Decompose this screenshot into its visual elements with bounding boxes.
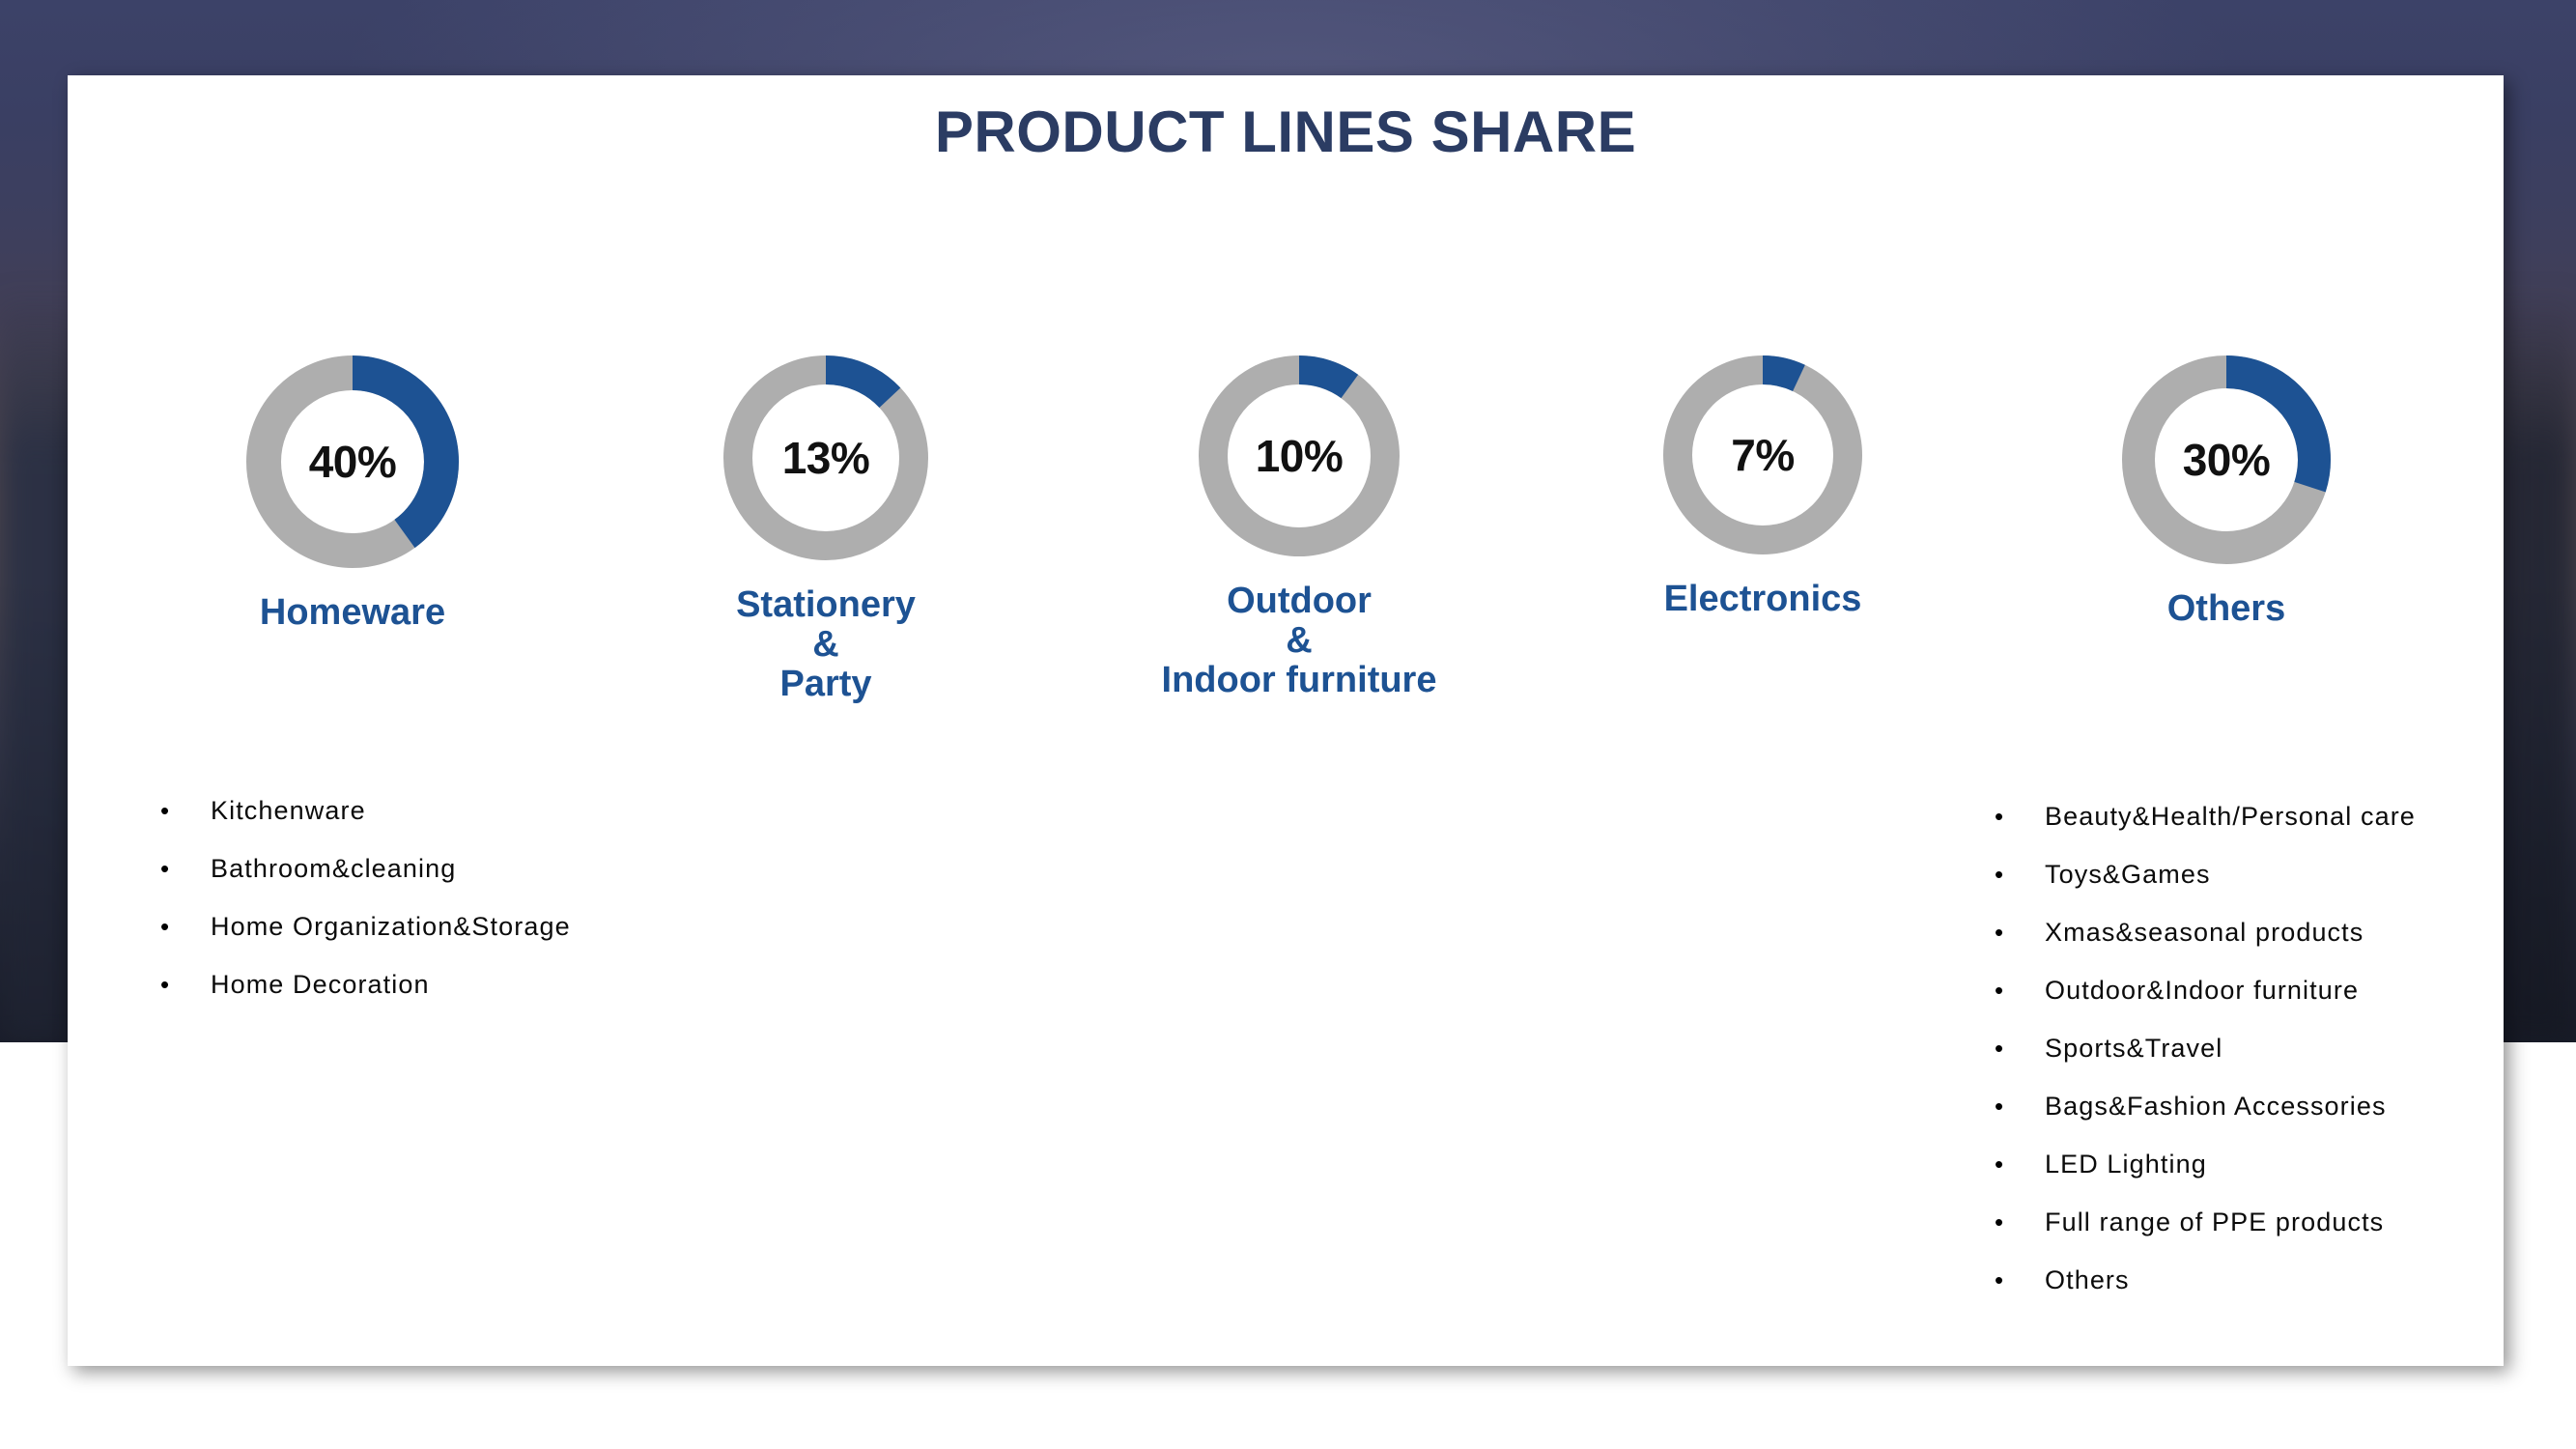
list-item-label: Home Decoration <box>211 970 430 1000</box>
donut-ring: 13% <box>723 355 928 560</box>
donut-category-label: Electronics <box>1555 580 1970 619</box>
list-item-label: Xmas&seasonal products <box>2045 918 2364 948</box>
donut-percent-value: 13% <box>723 355 928 560</box>
bullet-dot-icon: • <box>160 972 211 997</box>
page-title: PRODUCT LINES SHARE <box>68 99 2504 165</box>
donut-category-label: Others <box>2019 589 2434 629</box>
list-item-label: Home Organization&Storage <box>211 912 571 942</box>
list-item: •Beauty&Health/Personal care <box>1995 802 2416 832</box>
donut-percent-value: 30% <box>2122 355 2331 564</box>
donut-ring: 40% <box>246 355 459 568</box>
list-item-label: Sports&Travel <box>2045 1034 2222 1064</box>
bullet-dot-icon: • <box>1995 1267 2045 1293</box>
donut-ring: 10% <box>1199 355 1400 556</box>
list-item: •Home Decoration <box>160 970 571 1000</box>
bullet-dot-icon: • <box>160 798 211 823</box>
bullet-dot-icon: • <box>1995 1094 2045 1119</box>
slide-stage: PRODUCT LINES SHARE 40%Homeware13%Statio… <box>0 0 2576 1449</box>
list-item: •Xmas&seasonal products <box>1995 918 2416 948</box>
donut-percent-value: 10% <box>1199 355 1400 556</box>
bullet-dot-icon: • <box>160 856 211 881</box>
donut-cell-3: 10%Outdoor & Indoor furniture <box>1091 355 1507 700</box>
list-item-label: Full range of PPE products <box>2045 1207 2384 1237</box>
bullet-dot-icon: • <box>1995 804 2045 829</box>
list-item-label: LED Lighting <box>2045 1150 2207 1179</box>
list-item: •Toys&Games <box>1995 860 2416 890</box>
donut-category-label: Homeware <box>145 593 560 633</box>
donut-category-label: Stationery & Party <box>618 585 1033 704</box>
donut-cell-4: 7%Electronics <box>1555 355 1970 619</box>
bullet-dot-icon: • <box>1995 1151 2045 1177</box>
list-item-label: Toys&Games <box>2045 860 2211 890</box>
bullet-dot-icon: • <box>1995 1036 2045 1061</box>
bullet-dot-icon: • <box>1995 920 2045 945</box>
donut-chart-row: 40%Homeware13%Stationery & Party10%Outdo… <box>126 355 2453 761</box>
list-item-label: Beauty&Health/Personal care <box>2045 802 2416 832</box>
slide-card: PRODUCT LINES SHARE 40%Homeware13%Statio… <box>68 75 2504 1366</box>
list-item-label: Bathroom&cleaning <box>211 854 456 884</box>
donut-percent-value: 7% <box>1663 355 1862 554</box>
donut-category-label: Outdoor & Indoor furniture <box>1091 582 1507 700</box>
list-item: •Bags&Fashion Accessories <box>1995 1092 2416 1122</box>
list-item: •LED Lighting <box>1995 1150 2416 1179</box>
list-item: •Full range of PPE products <box>1995 1207 2416 1237</box>
list-item: •Home Organization&Storage <box>160 912 571 942</box>
donut-cell-5: 30%Others <box>2019 355 2434 629</box>
donut-percent-value: 40% <box>246 355 459 568</box>
list-item: •Bathroom&cleaning <box>160 854 571 884</box>
list-item-label: Outdoor&Indoor furniture <box>2045 976 2359 1006</box>
donut-ring: 30% <box>2122 355 2331 564</box>
list-item-label: Others <box>2045 1265 2130 1295</box>
list-item-label: Kitchenware <box>211 796 366 826</box>
donut-cell-2: 13%Stationery & Party <box>618 355 1033 704</box>
list-item: •Others <box>1995 1265 2416 1295</box>
others-bullet-list: •Beauty&Health/Personal care•Toys&Games•… <box>1995 802 2416 1323</box>
list-item: •Outdoor&Indoor furniture <box>1995 976 2416 1006</box>
donut-ring: 7% <box>1663 355 1862 554</box>
bullet-dot-icon: • <box>160 914 211 939</box>
list-item-label: Bags&Fashion Accessories <box>2045 1092 2387 1122</box>
homeware-bullet-list: •Kitchenware•Bathroom&cleaning•Home Orga… <box>160 796 571 1028</box>
bullet-dot-icon: • <box>1995 1209 2045 1235</box>
donut-cell-1: 40%Homeware <box>145 355 560 633</box>
bullet-dot-icon: • <box>1995 978 2045 1003</box>
list-item: •Sports&Travel <box>1995 1034 2416 1064</box>
bullet-dot-icon: • <box>1995 862 2045 887</box>
list-item: •Kitchenware <box>160 796 571 826</box>
